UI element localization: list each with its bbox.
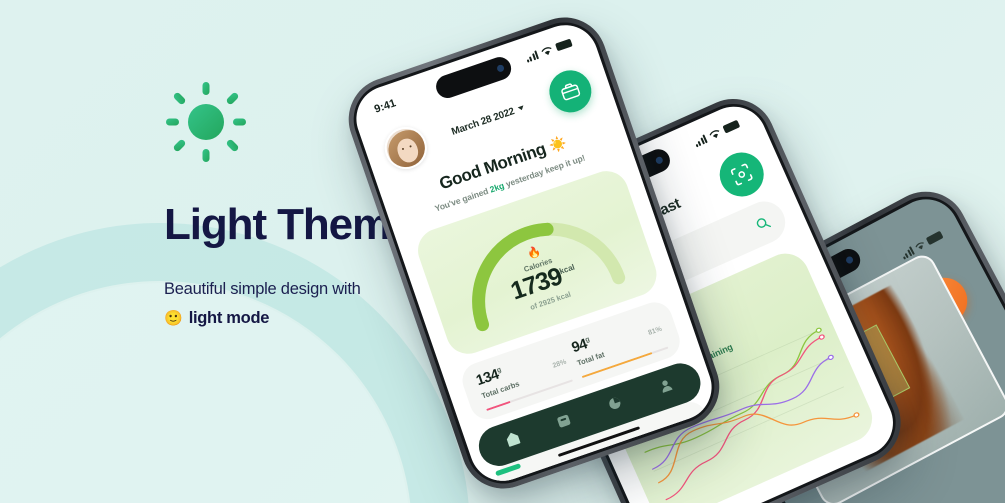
status-icons — [693, 119, 741, 147]
wifi-icon — [540, 45, 554, 57]
signal-icon — [693, 134, 708, 147]
briefcase-icon — [559, 81, 581, 102]
wifi-icon — [708, 127, 723, 140]
status-icons — [524, 38, 573, 62]
chevron-down-icon — [518, 105, 525, 111]
sun-icon — [164, 80, 248, 164]
search-icon — [754, 215, 771, 232]
stat-unit: g — [584, 336, 590, 344]
stat-total-carbs: 134g Total carbs 28% — [474, 345, 572, 409]
battery-icon — [926, 231, 944, 246]
light-mode-label: light mode — [189, 309, 269, 328]
nav-journal-icon[interactable] — [554, 412, 575, 436]
nav-pie-chart-icon[interactable] — [605, 394, 626, 418]
phones-stage: Scan meal 9:41 Breakfast — [380, 0, 1005, 503]
status-time: 9:41 — [373, 97, 398, 116]
phone-front-home: 9:41 March 28 2022 — [337, 6, 730, 500]
scan-button[interactable] — [713, 145, 771, 203]
date-label: March 28 2022 — [450, 106, 516, 138]
avatar[interactable] — [379, 121, 432, 174]
stat-progress-fill — [486, 400, 511, 411]
gauge-unit: kcal — [558, 262, 576, 276]
battery-icon — [555, 39, 573, 52]
phone-front-screen: 9:41 March 28 2022 — [347, 16, 720, 489]
date-selector[interactable]: March 28 2022 — [433, 96, 542, 143]
battery-icon — [722, 120, 740, 134]
nav-profile-icon[interactable] — [656, 376, 677, 400]
scan-icon — [729, 161, 755, 187]
stat-total-fat: 94g Total fat 81% — [570, 313, 668, 377]
nav-home-icon[interactable] — [503, 429, 524, 453]
sun-emoji-icon: ☀️ — [547, 134, 569, 155]
wifi-icon — [913, 239, 927, 252]
smiling-face-icon: 🙂 — [164, 311, 183, 326]
signal-icon — [524, 50, 539, 63]
add-meal-button[interactable] — [544, 65, 597, 118]
